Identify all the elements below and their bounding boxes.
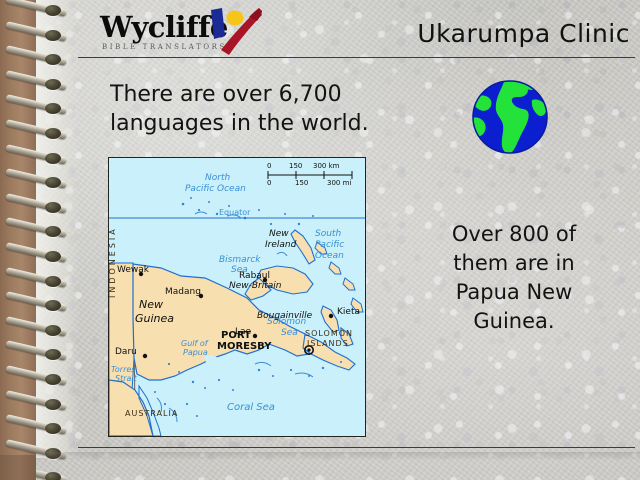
map-label-north-pacific-1: North bbox=[205, 173, 230, 183]
page-title: Ukarumpa Clinic bbox=[405, 19, 630, 49]
scale-mi-0: 0 bbox=[267, 179, 271, 187]
map-label-bismarck-1: Bismarck bbox=[219, 255, 261, 265]
map-label-port-moresby-1: PORT bbox=[221, 330, 251, 341]
scale-km-0: 0 bbox=[267, 162, 271, 170]
right-text-block: Over 800 of them are in Papua New Guinea… bbox=[392, 220, 636, 336]
map-label-south-pacific-1: South bbox=[315, 229, 341, 239]
map-label-solomon-islands-2: ISLANDS bbox=[307, 339, 349, 348]
slide-canvas: Wycliffe BIBLE TRANSLATORS Ukarumpa Clin… bbox=[0, 0, 640, 480]
map-label-solomon-islands-1: SOLOMON bbox=[305, 329, 353, 338]
globe-icon bbox=[470, 78, 550, 156]
footer-divider-line bbox=[78, 447, 635, 448]
scale-mi-300: 300 mi bbox=[327, 179, 351, 187]
map-label-indonesia: INDONESIA bbox=[109, 226, 117, 298]
map-label-bougainville: Bougainville bbox=[257, 311, 313, 321]
wycliffe-logo: Wycliffe BIBLE TRANSLATORS bbox=[100, 10, 260, 58]
map-label-wewak: Wewak bbox=[117, 265, 150, 275]
map-label-south-pacific-3: Ocean bbox=[315, 251, 344, 261]
papua-new-guinea-map: North Pacific Ocean South Pacific Ocean … bbox=[108, 157, 366, 437]
notebook-leather-spine-bottom bbox=[0, 455, 36, 480]
page-bottom-shadow bbox=[36, 452, 640, 460]
spiral-punch-hole bbox=[45, 79, 61, 90]
lede-line-1: There are over 6,700 bbox=[110, 80, 410, 109]
map-label-gulf-of-papua-2: Papua bbox=[183, 348, 208, 357]
map-label-equator: Equator bbox=[219, 208, 251, 217]
scale-km-150: 150 bbox=[289, 162, 302, 170]
map-label-rabaul: Rabaul bbox=[239, 271, 270, 281]
spiral-binding-coils bbox=[0, 0, 90, 480]
spiral-punch-hole bbox=[45, 5, 61, 16]
spiral-punch-hole bbox=[45, 472, 61, 480]
map-label-north-pacific-2: Pacific Ocean bbox=[185, 184, 246, 194]
spiral-punch-hole bbox=[45, 251, 61, 262]
right-line-1: Over 800 of bbox=[392, 220, 636, 249]
map-label-australia: AUSTRALIA bbox=[125, 409, 178, 418]
map-label-daru: Daru bbox=[115, 347, 137, 357]
map-label-torres-1: Torres bbox=[111, 365, 135, 374]
map-label-south-pacific-2: Pacific bbox=[315, 240, 344, 250]
spiral-punch-hole bbox=[45, 325, 61, 336]
map-label-new-guinea-1: New bbox=[139, 298, 163, 311]
spiral-punch-hole bbox=[45, 399, 61, 410]
right-line-3: Papua New bbox=[392, 278, 636, 307]
spiral-punch-hole bbox=[45, 128, 61, 139]
right-line-4: Guinea. bbox=[392, 307, 636, 336]
spiral-punch-hole bbox=[45, 30, 61, 41]
lede-line-2: languages in the world. bbox=[110, 109, 410, 138]
map-label-madang: Madang bbox=[165, 287, 201, 297]
map-label-new-guinea-2: Guinea bbox=[135, 312, 174, 325]
map-label-gulf-of-papua-1: Gulf of bbox=[181, 339, 209, 348]
scale-mi-150: 150 bbox=[295, 179, 308, 187]
map-label-torres-2: Strait bbox=[115, 374, 138, 383]
wycliffe-brushstroke-icon bbox=[205, 6, 263, 58]
spiral-punch-hole bbox=[45, 276, 61, 287]
map-scale-bar: 0 150 300 km 0 150 300 mi bbox=[259, 158, 365, 190]
map-label-solomon-sea-2: Sea bbox=[281, 328, 298, 338]
map-label-new-ireland-1: New bbox=[269, 229, 289, 239]
map-label-new-britain: New-Britain bbox=[229, 281, 282, 291]
spiral-punch-hole bbox=[45, 153, 61, 164]
map-label-new-ireland-2: Ireland bbox=[265, 240, 297, 250]
spiral-punch-hole bbox=[45, 202, 61, 213]
spiral-punch-hole bbox=[45, 374, 61, 385]
lede-text-block: There are over 6,700 languages in the wo… bbox=[110, 80, 410, 138]
map-label-coral-sea: Coral Sea bbox=[227, 402, 275, 413]
map-label-kieta: Kieta bbox=[337, 307, 360, 317]
right-line-2: them are in bbox=[392, 249, 636, 278]
map-graphic: North Pacific Ocean South Pacific Ocean … bbox=[109, 158, 365, 436]
map-label-port-moresby-2: MORESBY bbox=[217, 341, 272, 352]
scale-km-300: 300 km bbox=[313, 162, 340, 170]
